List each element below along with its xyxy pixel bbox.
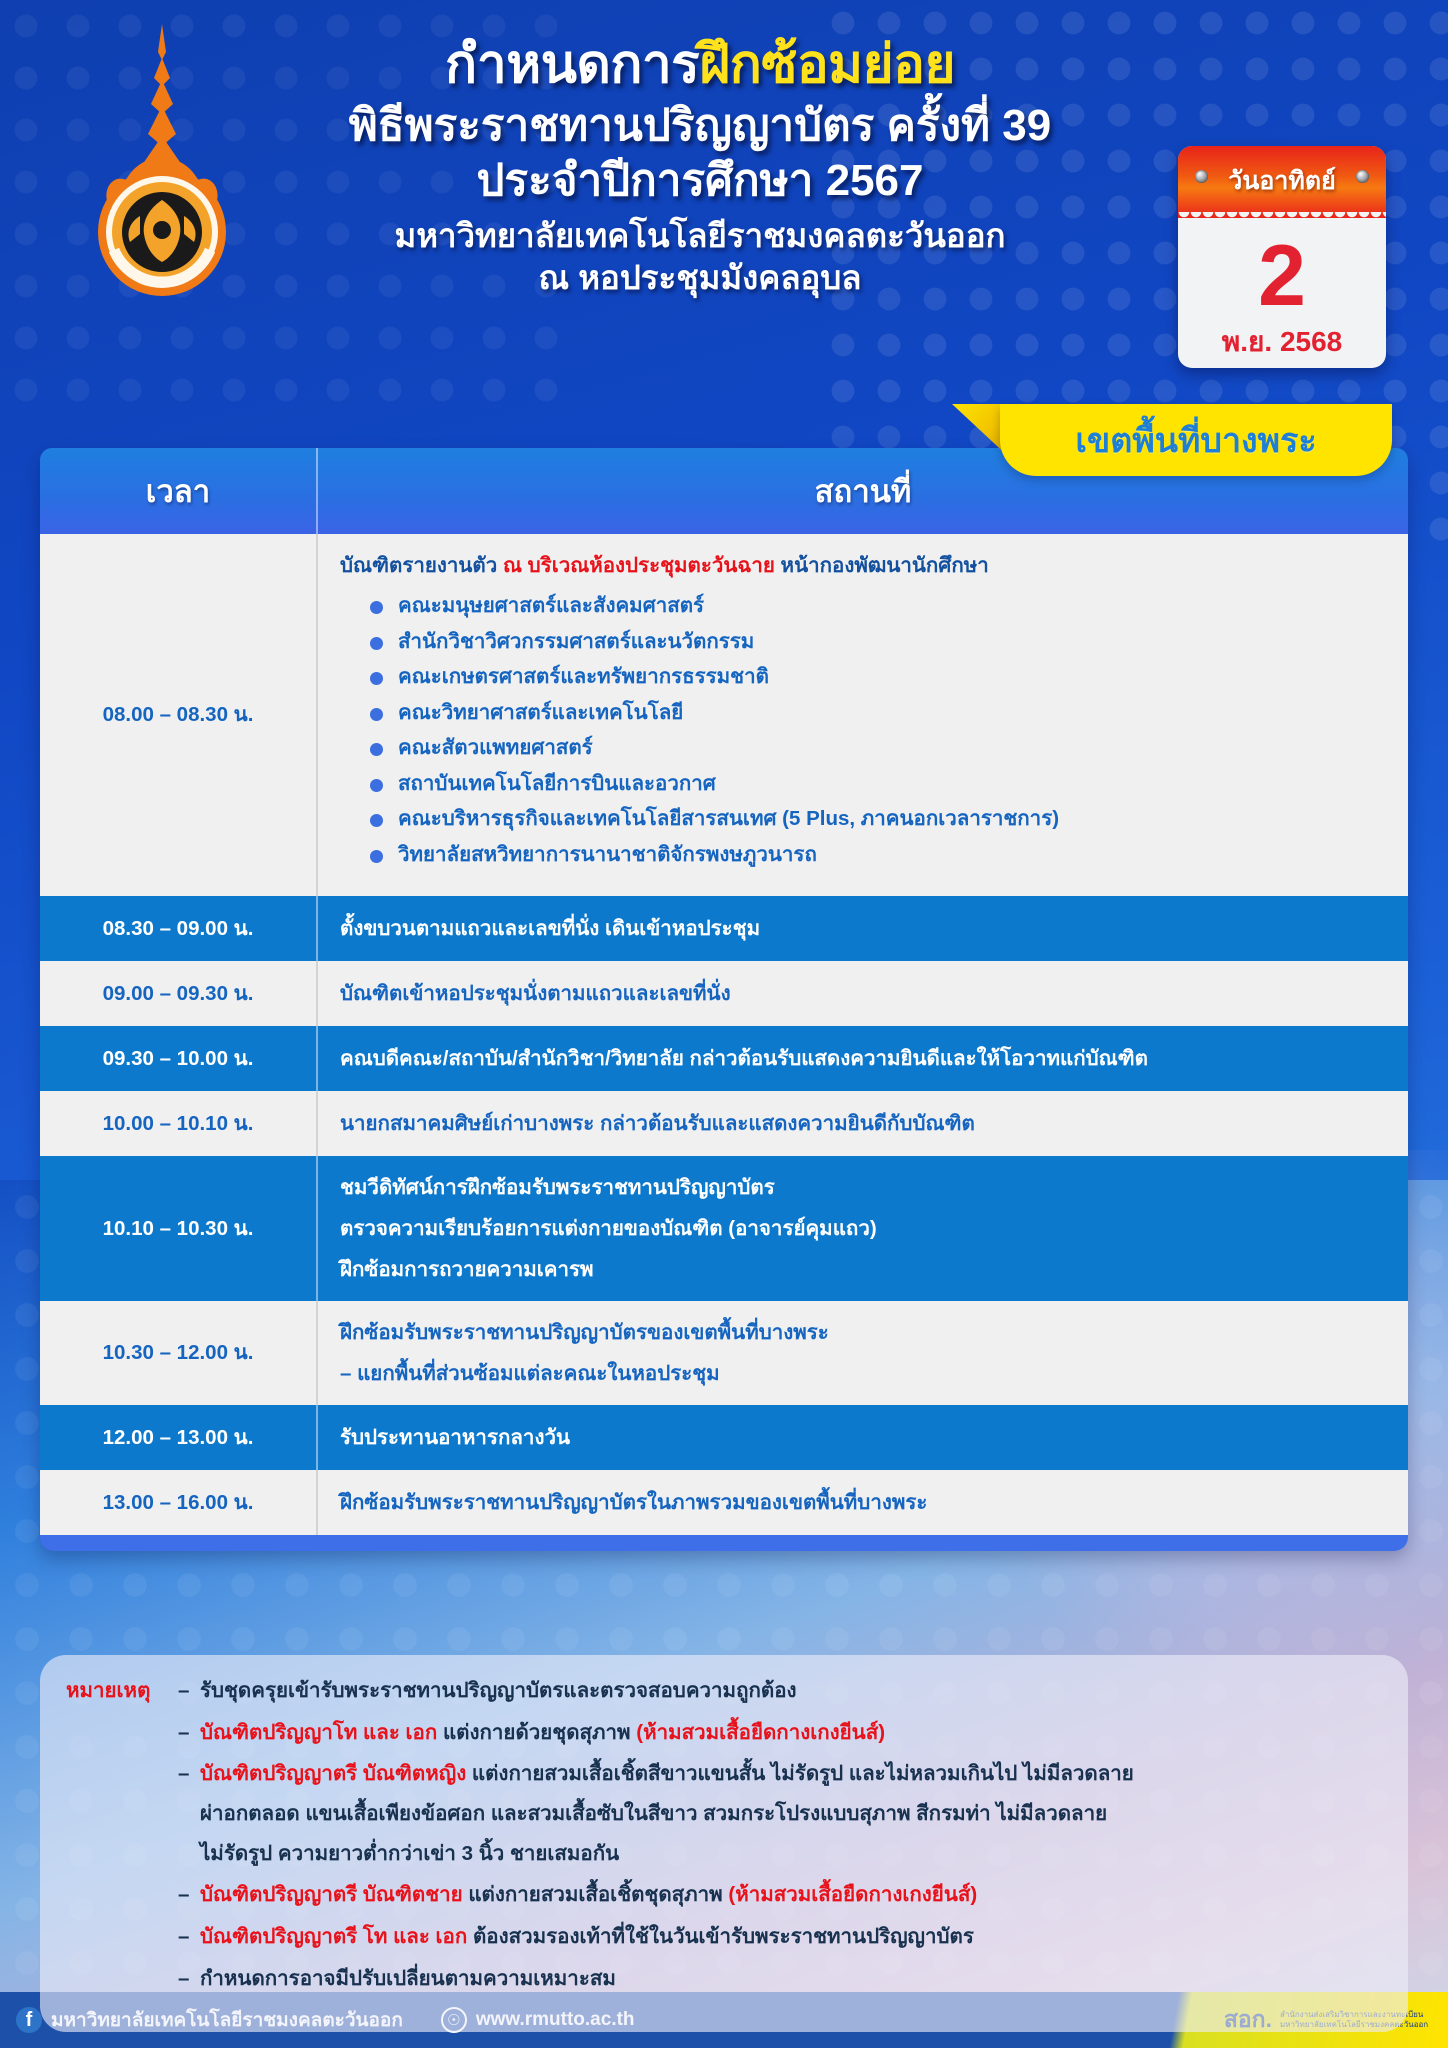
note-continuation-line: ไม่รัดรูป ความยาวต่ำกว่าเข่า 3 นิ้ว ชายเ… [200,1840,1378,1868]
calendar-weekday: วันอาทิตย์ [1178,146,1386,216]
table-row: 13.00 – 16.00 น.ฝึกซ้อมรับพระราชทานปริญญ… [40,1470,1408,1535]
title-university: มหาวิทยาลัยเทคโนโลยีราชมงคลตะวันออก [250,215,1150,258]
row-place-line: รับประทานอาหารกลางวัน [340,1421,1398,1454]
note-body: ต้องสวมรองเท้าที่ใช้ในวันเข้ารับพระราชทา… [473,1925,974,1948]
row-place-line: ตั้งขบวนตามแถวและเลขที่นั่ง เดินเข้าหอปร… [340,912,1398,945]
note-highlight-lead: บัณฑิตปริญญาตรี บัณฑิตหญิง [200,1762,472,1785]
row-place: คณบดีคณะ/สถาบัน/สำนักวิชา/วิทยาลัย กล่าว… [318,1026,1408,1091]
note-highlight-lead: บัณฑิตปริญญาโท และ เอก [200,1721,443,1744]
row-time: 13.00 – 16.00 น. [40,1470,318,1535]
title-main-highlight: ฝึกซ้อมย่อย [699,35,955,94]
row-time: 09.30 – 10.00 น. [40,1026,318,1091]
note-text: รับชุดครุยเข้ารับพระราชทานปริญญาบัตรและต… [200,1677,1378,1705]
row-place: ชมวีดิทัศน์การฝึกซ้อมรับพระราชทานปริญญาบ… [318,1156,1408,1301]
row-place-line: – แยกพื้นที่ส่วนซ้อมแต่ละคณะในหอประชุม [340,1357,1398,1390]
notes-list: หมายเหตุ–รับชุดครุยเข้ารับพระราชทานปริญญ… [66,1677,1378,1992]
note-continuation-line: ผ่าอกตลอด แขนเสื้อเพียงข้อศอก และสวมเสื้… [200,1800,1378,1828]
table-row: 09.30 – 10.00 น.คณบดีคณะ/สถาบัน/สำนักวิช… [40,1026,1408,1091]
schedule-table-wrapper: เวลา สถานที่ 08.00 – 08.30 น.บัณฑิตรายงา… [40,448,1408,1551]
notes-label-spacer [66,1719,178,1747]
note-item: –บัณฑิตปริญญาตรี บัณฑิตชาย แต่งกายสวมเสื… [66,1881,1378,1909]
title-ceremony: พิธีพระราชทานปริญญาบัตร ครั้งที่ 39 [250,99,1150,154]
calendar-month-year: พ.ย. 2568 [1178,320,1386,364]
note-dash-marker: – [178,1760,200,1867]
row-place-line: ตรวจความเรียบร้อยการแต่งกายของบัณฑิต (อา… [340,1212,1398,1245]
faculty-list-item: คณะสัตวแพทยศาสตร์ [368,736,1398,760]
row-lead-highlight: ณ บริเวณห้องประชุมตะวันฉาย [503,554,775,577]
table-row: 12.00 – 13.00 น.รับประทานอาหารกลางวัน [40,1405,1408,1470]
row-place: ตั้งขบวนตามแถวและเลขที่นั่ง เดินเข้าหอปร… [318,896,1408,961]
note-text: บัณฑิตปริญญาตรี โท และ เอก ต้องสวมรองเท้… [200,1923,1378,1951]
calendar-ring-right-icon [1356,170,1369,183]
row-place-line: ฝึกซ้อมการถวายความเคารพ [340,1253,1398,1286]
table-row: 08.30 – 09.00 น.ตั้งขบวนตามแถวและเลขที่น… [40,896,1408,961]
note-item: –บัณฑิตปริญญาโท และ เอก แต่งกายด้วยชุดสุ… [66,1719,1378,1747]
table-body: 08.00 – 08.30 น.บัณฑิตรายงานตัว ณ บริเวณ… [40,534,1408,1535]
row-place-line: นายกสมาคมศิษย์เก่าบางพระ กล่าวต้อนรับและ… [340,1107,1398,1140]
row-time: 10.00 – 10.10 น. [40,1091,318,1156]
row-place-line: คณบดีคณะ/สถาบัน/สำนักวิชา/วิทยาลัย กล่าว… [340,1042,1398,1075]
poster-header: กำหนดการฝึกซ้อมย่อย พิธีพระราชทานปริญญาบ… [0,0,1448,420]
row-place: บัณฑิตเข้าหอประชุมนั่งตามแถวและเลขที่นั่… [318,961,1408,1026]
row-place-line: ฝึกซ้อมรับพระราชทานปริญญาบัตรของเขตพื้นท… [340,1316,1398,1349]
faculty-list-item: คณะเกษตรศาสตร์และทรัพยากรธรรมชาติ [368,665,1398,689]
note-body: แต่งกายด้วยชุดสุภาพ [443,1721,636,1744]
notes-label-spacer [66,1965,178,1993]
row-place: บัณฑิตรายงานตัว ณ บริเวณห้องประชุมตะวันฉ… [318,534,1408,896]
row-lead-prefix: บัณฑิตรายงานตัว [340,554,503,577]
note-dash-marker: – [178,1719,200,1747]
row-place-line: ฝึกซ้อมรับพระราชทานปริญญาบัตรในภาพรวมของ… [340,1486,1398,1519]
table-row: 09.00 – 09.30 น.บัณฑิตเข้าหอประชุมนั่งตา… [40,961,1408,1026]
note-text: บัณฑิตปริญญาตรี บัณฑิตชาย แต่งกายสวมเสื้… [200,1881,1378,1909]
date-calendar-widget: วันอาทิตย์ 2 พ.ย. 2568 [1178,146,1386,368]
note-text: บัณฑิตปริญญาโท และ เอก แต่งกายด้วยชุดสุภ… [200,1719,1378,1747]
note-item: หมายเหตุ–รับชุดครุยเข้ารับพระราชทานปริญญ… [66,1677,1378,1705]
note-dash-marker: – [178,1923,200,1951]
row-lead-text: บัณฑิตรายงานตัว ณ บริเวณห้องประชุมตะวันฉ… [340,549,1398,582]
note-highlight-tail: (ห้ามสวมเสื้อยืดกางเกงยีนส์) [636,1721,885,1744]
row-lead-suffix: หน้ากองพัฒนานักศึกษา [775,554,989,577]
title-venue: ณ หอประชุมมังคลอุบล [250,257,1150,300]
notes-panel: หมายเหตุ–รับชุดครุยเข้ารับพระราชทานปริญญ… [40,1655,1408,2032]
faculty-list: คณะมนุษยศาสตร์และสังคมศาสตร์สำนักวิชาวิศ… [368,594,1398,879]
note-highlight-lead: บัณฑิตปริญญาตรี บัณฑิตชาย [200,1883,468,1906]
faculty-list-item: คณะวิทยาศาสตร์และเทคโนโลยี [368,701,1398,725]
note-text: บัณฑิตปริญญาตรี บัณฑิตหญิง แต่งกายสวมเสื… [200,1760,1378,1867]
faculty-list-item: สำนักวิชาวิศวกรรมศาสตร์และนวัตกรรม [368,630,1398,654]
calendar-ring-left-icon [1195,170,1208,183]
row-time: 08.00 – 08.30 น. [40,534,318,896]
notes-label-spacer [66,1760,178,1867]
title-academic-year: ประจำปีการศึกษา 2567 [250,154,1150,209]
note-highlight-lead: บัณฑิตปริญญาตรี โท และ เอก [200,1925,473,1948]
row-place: นายกสมาคมศิษย์เก่าบางพระ กล่าวต้อนรับและ… [318,1091,1408,1156]
faculty-list-item: สถาบันเทคโนโลยีการบินและอวกาศ [368,772,1398,796]
title-main: กำหนดการฝึกซ้อมย่อย [250,34,1150,95]
notes-label-spacer [66,1923,178,1951]
table-row: 10.30 – 12.00 น.ฝึกซ้อมรับพระราชทานปริญญ… [40,1301,1408,1405]
note-item: –บัณฑิตปริญญาตรี บัณฑิตหญิง แต่งกายสวมเส… [66,1760,1378,1867]
note-dash-marker: – [178,1881,200,1909]
table-row: 10.10 – 10.30 น.ชมวีดิทัศน์การฝึกซ้อมรับ… [40,1156,1408,1301]
row-time: 09.00 – 09.30 น. [40,961,318,1026]
faculty-list-item: คณะบริหารธุรกิจและเทคโนโลยีสารสนเทศ (5 P… [368,807,1398,831]
note-body: แต่งกายสวมเสื้อเชิ้ตสีขาวแขนสั้น ไม่รัดร… [472,1762,1134,1785]
note-body: กำหนดการอาจมีปรับเปลี่ยนตามความเหมาะสม [200,1967,616,1990]
row-place: ฝึกซ้อมรับพระราชทานปริญญาบัตรของเขตพื้นท… [318,1301,1408,1405]
row-place: ฝึกซ้อมรับพระราชทานปริญญาบัตรในภาพรวมของ… [318,1470,1408,1535]
faculty-list-item: คณะมนุษยศาสตร์และสังคมศาสตร์ [368,594,1398,618]
university-emblem-logo [52,18,272,308]
schedule-table: เวลา สถานที่ 08.00 – 08.30 น.บัณฑิตรายงา… [40,448,1408,1551]
row-place-line: ชมวีดิทัศน์การฝึกซ้อมรับพระราชทานปริญญาบ… [340,1171,1398,1204]
note-dash-marker: – [178,1965,200,1993]
note-dash-marker: – [178,1677,200,1705]
row-time: 08.30 – 09.00 น. [40,896,318,961]
note-item: –กำหนดการอาจมีปรับเปลี่ยนตามความเหมาะสม [66,1965,1378,1993]
table-row: 10.00 – 10.10 น.นายกสมาคมศิษย์เก่าบางพระ… [40,1091,1408,1156]
row-place: รับประทานอาหารกลางวัน [318,1405,1408,1470]
note-item: –บัณฑิตปริญญาตรี โท และ เอก ต้องสวมรองเท… [66,1923,1378,1951]
row-time: 10.10 – 10.30 น. [40,1156,318,1301]
row-place-line: บัณฑิตเข้าหอประชุมนั่งตามแถวและเลขที่นั่… [340,977,1398,1010]
calendar-day-number: 2 [1178,222,1386,330]
facebook-icon[interactable]: f [16,2007,42,2033]
row-time: 12.00 – 13.00 น. [40,1405,318,1470]
column-header-time: เวลา [40,448,318,534]
calendar-header: วันอาทิตย์ [1178,146,1386,218]
notes-label: หมายเหตุ [66,1677,178,1705]
note-body: แต่งกายสวมเสื้อเชิ้ตชุดสุภาพ [468,1883,728,1906]
note-text: กำหนดการอาจมีปรับเปลี่ยนตามความเหมาะสม [200,1965,1378,1993]
table-row: 08.00 – 08.30 น.บัณฑิตรายงานตัว ณ บริเวณ… [40,534,1408,896]
faculty-list-item: วิทยาลัยสหวิทยาการนานาชาติจักรพงษภูวนารถ [368,843,1398,867]
note-body: รับชุดครุยเข้ารับพระราชทานปริญญาบัตรและต… [200,1679,797,1702]
title-main-prefix: กำหนดการ [445,35,699,94]
zone-badge-label: เขตพื้นที่บางพระ [1075,413,1316,467]
zone-badge: เขตพื้นที่บางพระ [1000,404,1392,476]
row-time: 10.30 – 12.00 น. [40,1301,318,1405]
notes-label-spacer [66,1881,178,1909]
note-highlight-tail: (ห้ามสวมเสื้อยืดกางเกงยีนส์) [728,1883,977,1906]
poster-title-block: กำหนดการฝึกซ้อมย่อย พิธีพระราชทานปริญญาบ… [250,34,1150,300]
